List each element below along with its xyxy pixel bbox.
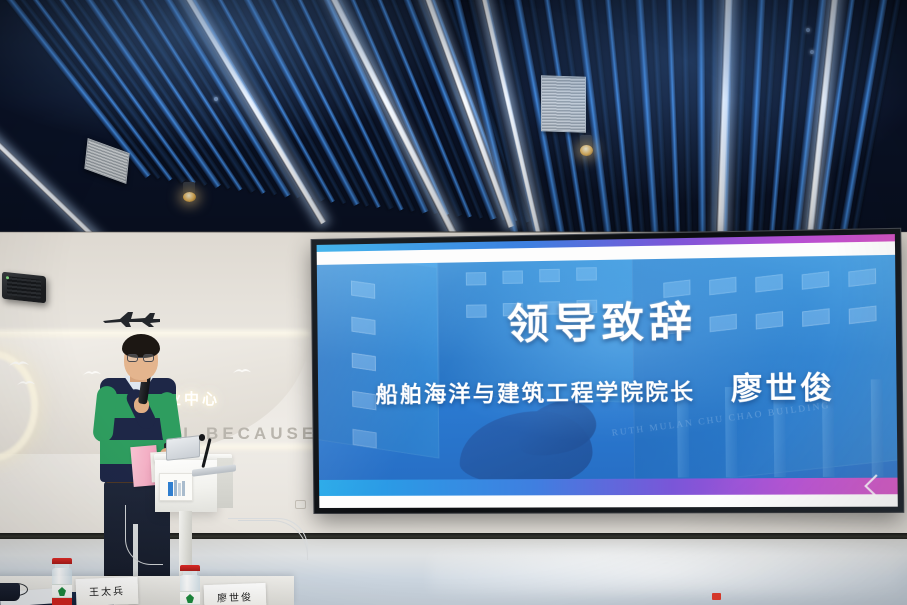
institution-logo-icon	[168, 480, 188, 502]
eyeglasses-bridge	[138, 357, 143, 358]
name-card-1: 王太兵	[76, 577, 139, 605]
water-bottle-left[interactable]	[52, 558, 72, 605]
bottle-label-leaf-icon	[58, 587, 66, 596]
table-cup	[0, 583, 20, 601]
conference-hall-scene: 创新创业中心 IT'S ALL BECAUSE OF YOU	[0, 0, 907, 605]
bottle-label	[180, 591, 200, 605]
name-card-2: 廖世俊	[204, 583, 267, 605]
laptop-screen[interactable]	[166, 435, 200, 461]
bottle-label	[52, 584, 72, 598]
name-card-2-text: 廖世俊	[204, 588, 266, 605]
podium-logo-plaque	[159, 473, 193, 501]
bottle-label-red-band	[52, 598, 72, 605]
bottle-body	[52, 568, 72, 605]
eyeglasses-left-lens	[127, 354, 138, 362]
bottle-label-leaf-icon	[186, 594, 194, 603]
bottle-body	[180, 575, 200, 605]
gooseneck-microphone-capsule	[199, 434, 205, 441]
name-card-1-text: 王太兵	[76, 582, 138, 599]
eyeglasses-right-lens	[143, 354, 154, 362]
water-bottle-right[interactable]	[180, 565, 200, 605]
podium-cable	[125, 505, 163, 565]
